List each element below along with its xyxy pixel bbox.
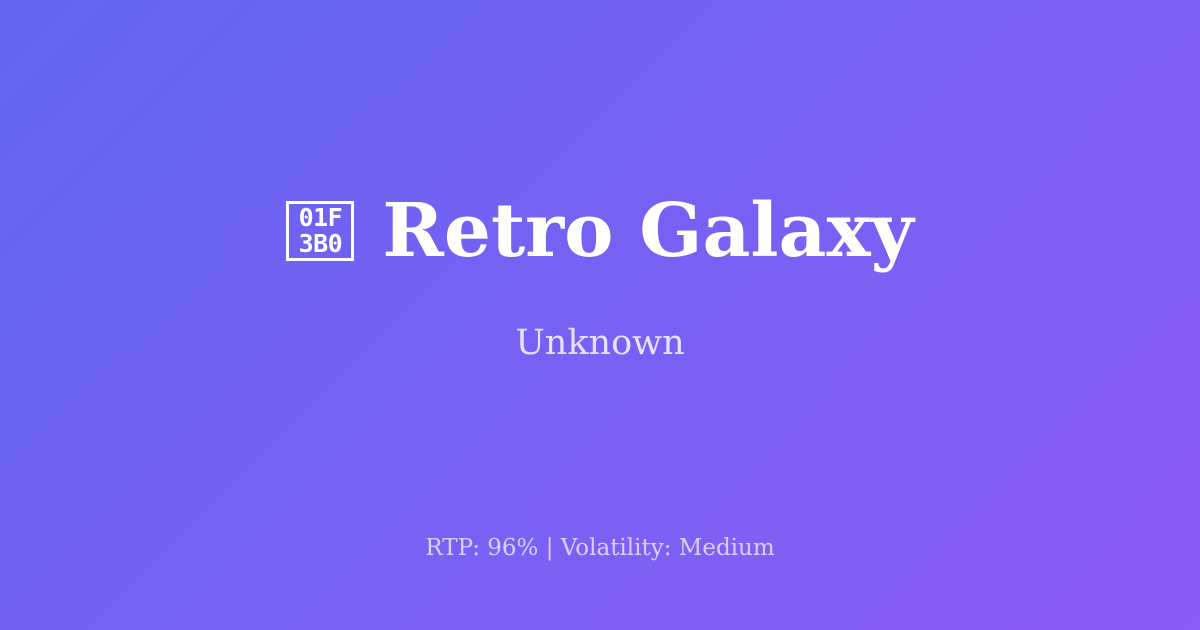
provider-subtitle: Unknown xyxy=(515,326,684,361)
slot-machine-icon-hex-top: 01F xyxy=(299,205,343,231)
og-card: 01F 3B0 Retro Galaxy Unknown RTP: 96% | … xyxy=(0,0,1200,630)
hero-group: 01F 3B0 Retro Galaxy Unknown xyxy=(0,194,1200,361)
game-stats-line: RTP: 96% | Volatility: Medium xyxy=(0,537,1200,560)
slot-machine-icon-hex-bottom: 3B0 xyxy=(299,231,343,257)
slot-machine-icon: 01F 3B0 xyxy=(286,201,354,261)
title-row: 01F 3B0 Retro Galaxy xyxy=(286,194,913,268)
page-title: Retro Galaxy xyxy=(382,194,913,268)
